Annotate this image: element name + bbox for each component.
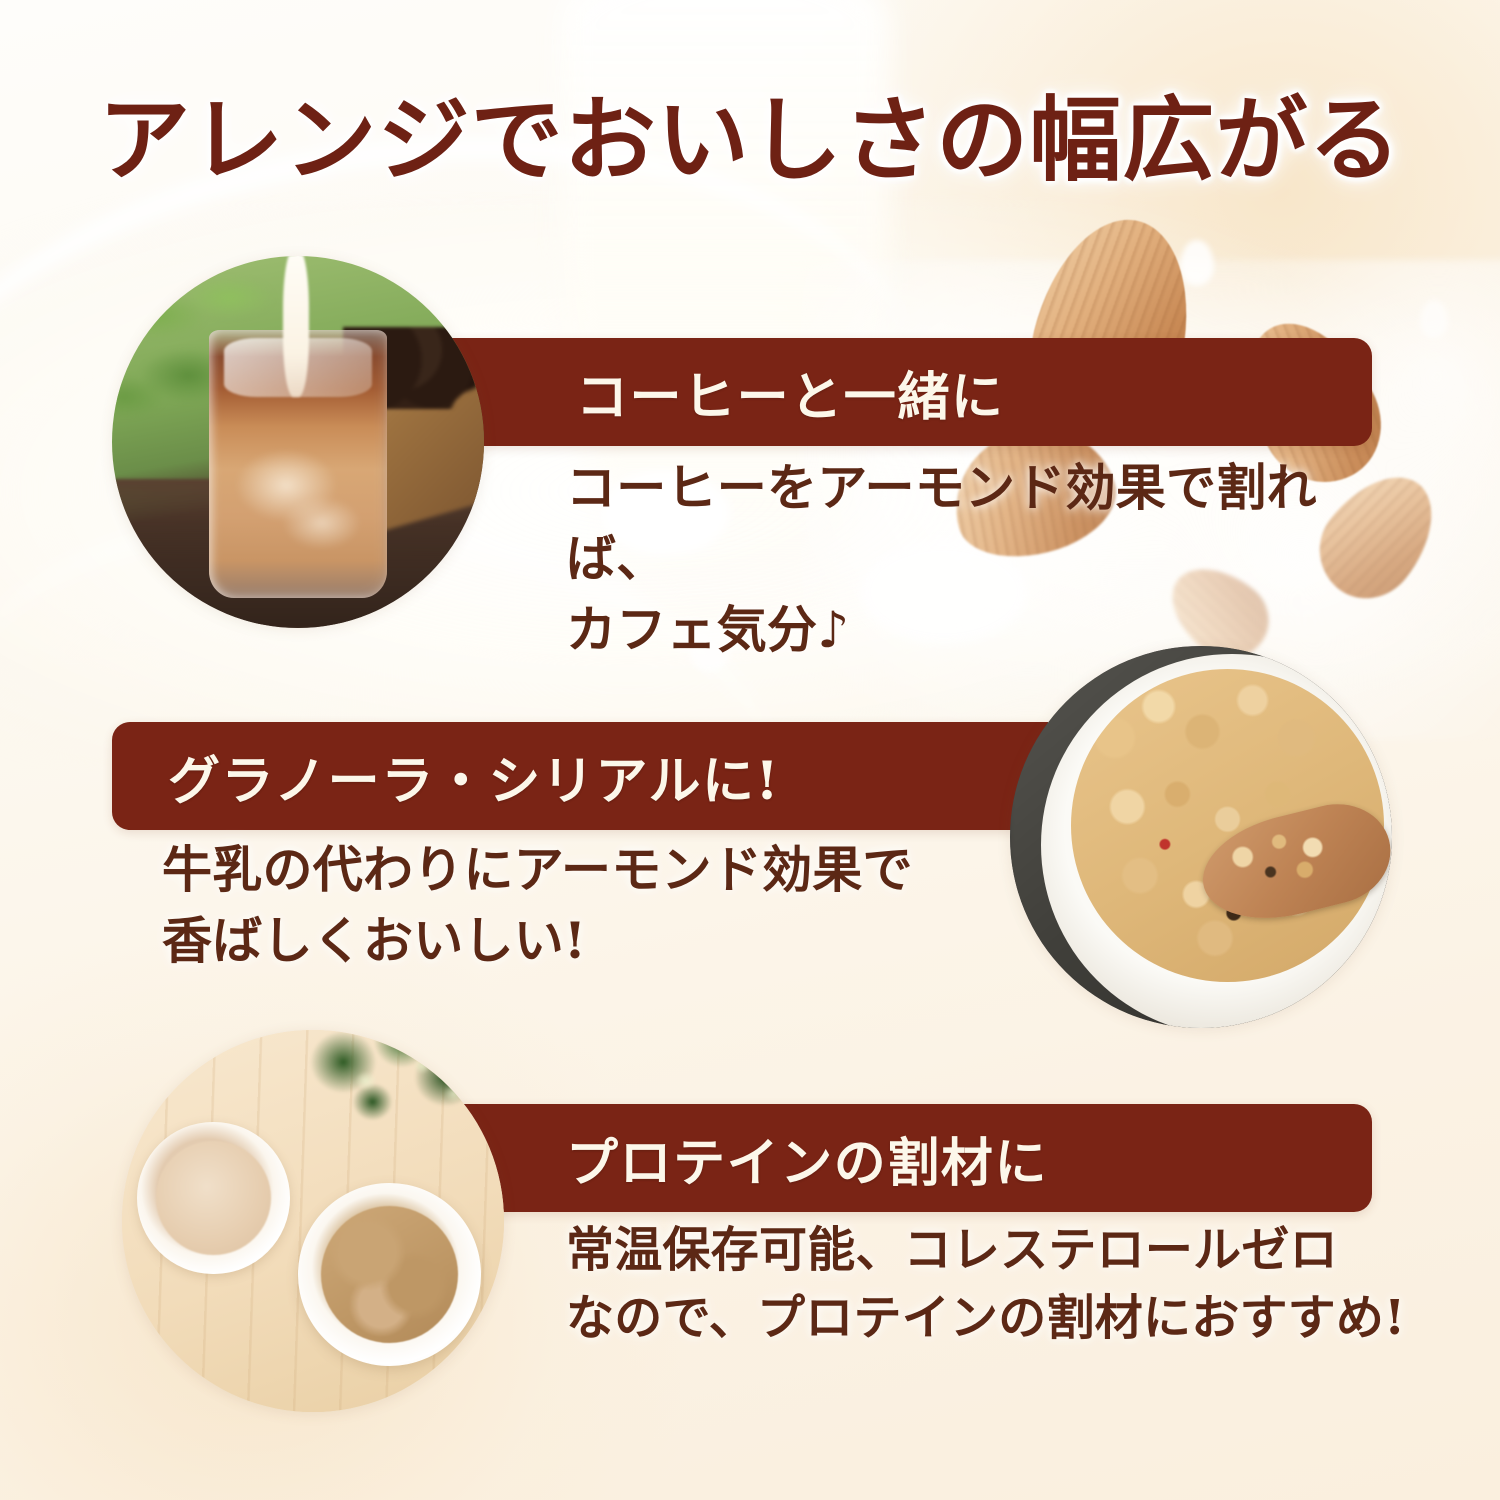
- granola-bowl-photo: [1010, 646, 1392, 1028]
- section-protein-banner: プロテインの割材に: [436, 1104, 1372, 1212]
- protein-powder-and-shake-photo: [122, 1030, 504, 1412]
- iced-coffee-with-milk-photo: [112, 256, 484, 628]
- section-granola-heading: グラノーラ・シリアルに!: [168, 739, 780, 814]
- section-protein-heading: プロテインの割材に: [566, 1121, 1048, 1196]
- promo-graphic: アレンジでおいしさの幅広がる コーヒーと一緒に コーヒーをアーモンド効果で割れば…: [0, 0, 1500, 1500]
- section-protein-body: 常温保存可能、コレステロールゼロ なので、プロテインの割材におすすめ!: [566, 1216, 1436, 1352]
- section-granola-banner: グラノーラ・シリアルに!: [112, 722, 1048, 830]
- section-coffee-body: コーヒーをアーモンド効果で割れば、 カフェ気分♪: [566, 452, 1406, 665]
- section-coffee-heading: コーヒーと一緒に: [576, 355, 1004, 430]
- page-title-wrap: アレンジでおいしさの幅広がる: [0, 92, 1500, 189]
- page-title: アレンジでおいしさの幅広がる: [98, 92, 1401, 189]
- milk-drop-decoration: [1420, 300, 1448, 338]
- section-granola-body: 牛乳の代わりにアーモンド効果で 香ばしくおいしい!: [162, 834, 1042, 976]
- section-coffee-banner: コーヒーと一緒に: [436, 338, 1372, 446]
